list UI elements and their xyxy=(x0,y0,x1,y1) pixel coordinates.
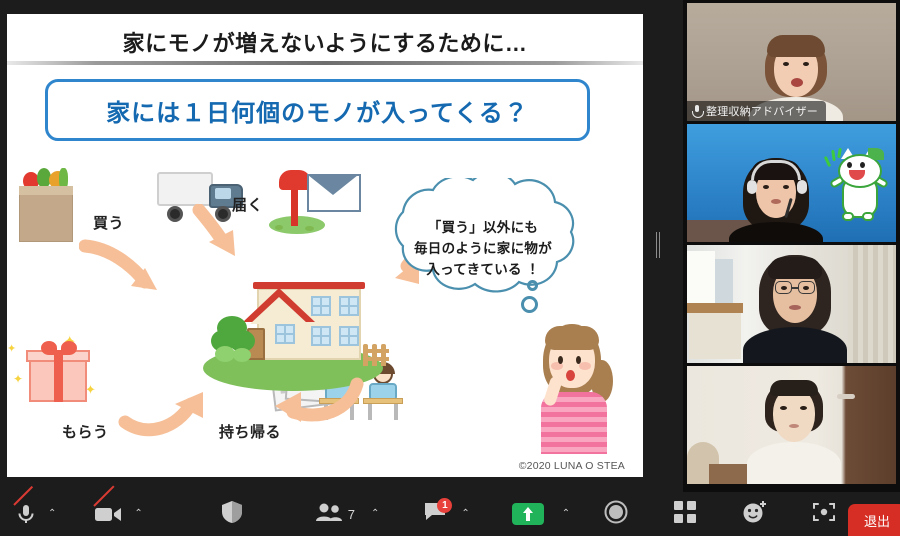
focus-mode-button[interactable] xyxy=(812,492,836,536)
video-feed xyxy=(687,124,896,242)
thought-bubble-dot xyxy=(521,296,538,313)
gift-box-icon xyxy=(29,342,91,404)
participant-tile[interactable]: 整理収納アドバイザー xyxy=(687,3,896,121)
flow-arrow-buy xyxy=(79,238,169,300)
breakout-rooms-button[interactable] xyxy=(674,492,696,536)
camera-off-icon xyxy=(94,504,122,524)
mute-audio-button[interactable] xyxy=(14,492,38,536)
participant-tile[interactable] xyxy=(687,366,896,484)
thinking-girl-illustration xyxy=(535,322,621,454)
participants-button[interactable]: 7 xyxy=(315,492,355,536)
record-button[interactable] xyxy=(604,492,628,536)
participant-nametag: 整理収納アドバイザー xyxy=(687,101,826,121)
sparkle-icon: ✦ xyxy=(7,342,16,355)
title-divider xyxy=(7,61,643,65)
reactions-icon xyxy=(742,500,768,529)
meeting-toolbar[interactable]: ⌃ ⌃ xyxy=(0,492,900,536)
diagram-label-delivered: 届く xyxy=(232,194,263,215)
stop-video-button[interactable] xyxy=(94,492,122,536)
leave-meeting-button[interactable]: 退出 xyxy=(848,504,900,536)
flow-arrow-receive xyxy=(117,382,217,438)
house-illustration xyxy=(203,266,383,391)
shield-icon xyxy=(221,500,243,529)
diagram-label-receive: もらう xyxy=(62,421,109,442)
participant-tile[interactable] xyxy=(687,124,896,242)
sparkle-icon: ✦ xyxy=(13,372,23,386)
share-screen-icon xyxy=(512,503,544,525)
chat-button[interactable]: 1 xyxy=(423,492,447,536)
thought-bubble-text: 「買う」以外にも 毎日のように家に物が 入ってきている ！ xyxy=(359,218,607,281)
chat-unread-badge: 1 xyxy=(437,498,452,513)
diagram-label-bring-home: 持ち帰る xyxy=(219,421,281,442)
video-feed xyxy=(687,366,896,484)
slide-copyright: ©2020 LUNA O STEA xyxy=(519,460,625,472)
slide-question-box: 家には１日何個のモノが入ってくる？ xyxy=(45,79,590,141)
thought-bubble-dot xyxy=(527,280,538,291)
chat-caret-icon[interactable]: ⌃ xyxy=(459,509,471,519)
slide-question-text: 家には１日何個のモノが入ってくる？ xyxy=(106,93,529,128)
grocery-bag-icon xyxy=(19,168,77,242)
participants-icon xyxy=(315,502,343,527)
share-screen-button[interactable] xyxy=(512,492,544,536)
security-button[interactable] xyxy=(221,492,243,536)
diagram-label-buy: 買う xyxy=(93,212,124,233)
video-feed xyxy=(687,245,896,363)
participants-count: 7 xyxy=(348,507,355,522)
zoom-meeting-window: 家にモノが増えないようにするために… 家には１日何個のモノが入ってくる？ xyxy=(0,0,900,536)
thought-bubble: 「買う」以外にも 毎日のように家に物が 入ってきている ！ xyxy=(359,178,607,312)
video-options-caret-icon[interactable]: ⌃ xyxy=(132,509,144,519)
participants-caret-icon[interactable]: ⌃ xyxy=(369,509,381,519)
breakout-rooms-icon xyxy=(674,501,696,528)
shared-screen-area[interactable]: 家にモノが増えないようにするために… 家には１日何個のモノが入ってくる？ xyxy=(0,0,658,492)
share-options-caret-icon[interactable]: ⌃ xyxy=(560,509,572,519)
participant-name: 整理収納アドバイザー xyxy=(706,103,818,119)
cat-mascot-icon xyxy=(832,150,888,222)
slide-title: 家にモノが増えないようにするために… xyxy=(7,26,643,58)
audio-options-caret-icon[interactable]: ⌃ xyxy=(46,509,58,519)
panel-resize-handle[interactable] xyxy=(654,232,662,258)
participant-tile[interactable] xyxy=(687,245,896,363)
microphone-muted-icon xyxy=(14,502,38,526)
slide-diagram: ✦ ✦ ✦ ✦ xyxy=(7,146,643,477)
reactions-button[interactable] xyxy=(742,492,768,536)
participant-filmstrip[interactable]: 整理収納アドバイザー xyxy=(683,0,900,492)
presentation-slide: 家にモノが増えないようにするために… 家には１日何個のモノが入ってくる？ xyxy=(7,14,643,477)
microphone-icon xyxy=(692,105,702,117)
focus-mode-icon xyxy=(812,501,836,528)
record-icon xyxy=(604,500,628,529)
envelope-icon xyxy=(307,174,361,212)
